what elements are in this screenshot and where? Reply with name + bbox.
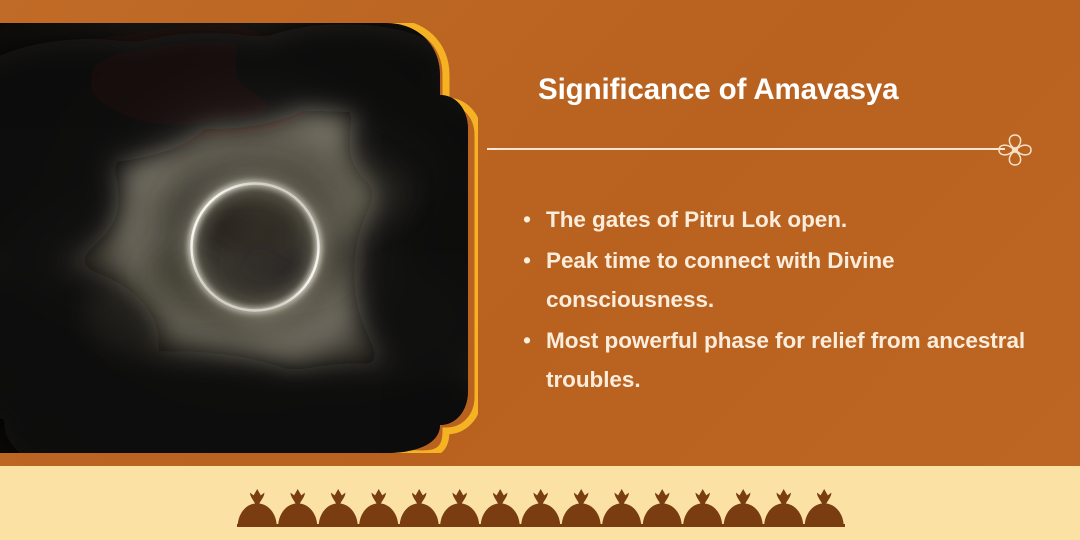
list-item: • Most powerful phase for relief from an… (520, 321, 1030, 399)
slide-title: Significance of Amavasya (538, 73, 1008, 107)
eclipse-photo (0, 23, 478, 453)
list-item-text: The gates of Pitru Lok open. (546, 200, 1030, 239)
list-item: • Peak time to connect with Divine consc… (520, 241, 1030, 319)
list-item-text: Peak time to connect with Divine conscio… (546, 241, 1030, 319)
temple-dome-border (237, 489, 845, 527)
bullet-marker-icon: • (520, 321, 546, 360)
bullet-marker-icon: • (520, 200, 546, 239)
list-item-text: Most powerful phase for relief from ance… (546, 321, 1030, 399)
title-divider (487, 140, 1047, 158)
list-item: • The gates of Pitru Lok open. (520, 200, 1030, 239)
slide-canvas: Significance of Amavasya (0, 0, 1080, 540)
divider-line (487, 148, 1005, 150)
bullet-marker-icon: • (520, 241, 546, 280)
eclipse-image-panel (0, 23, 484, 453)
bullet-list: • The gates of Pitru Lok open. • Peak ti… (520, 200, 1030, 401)
quatrefoil-knot-ornament (995, 131, 1035, 169)
